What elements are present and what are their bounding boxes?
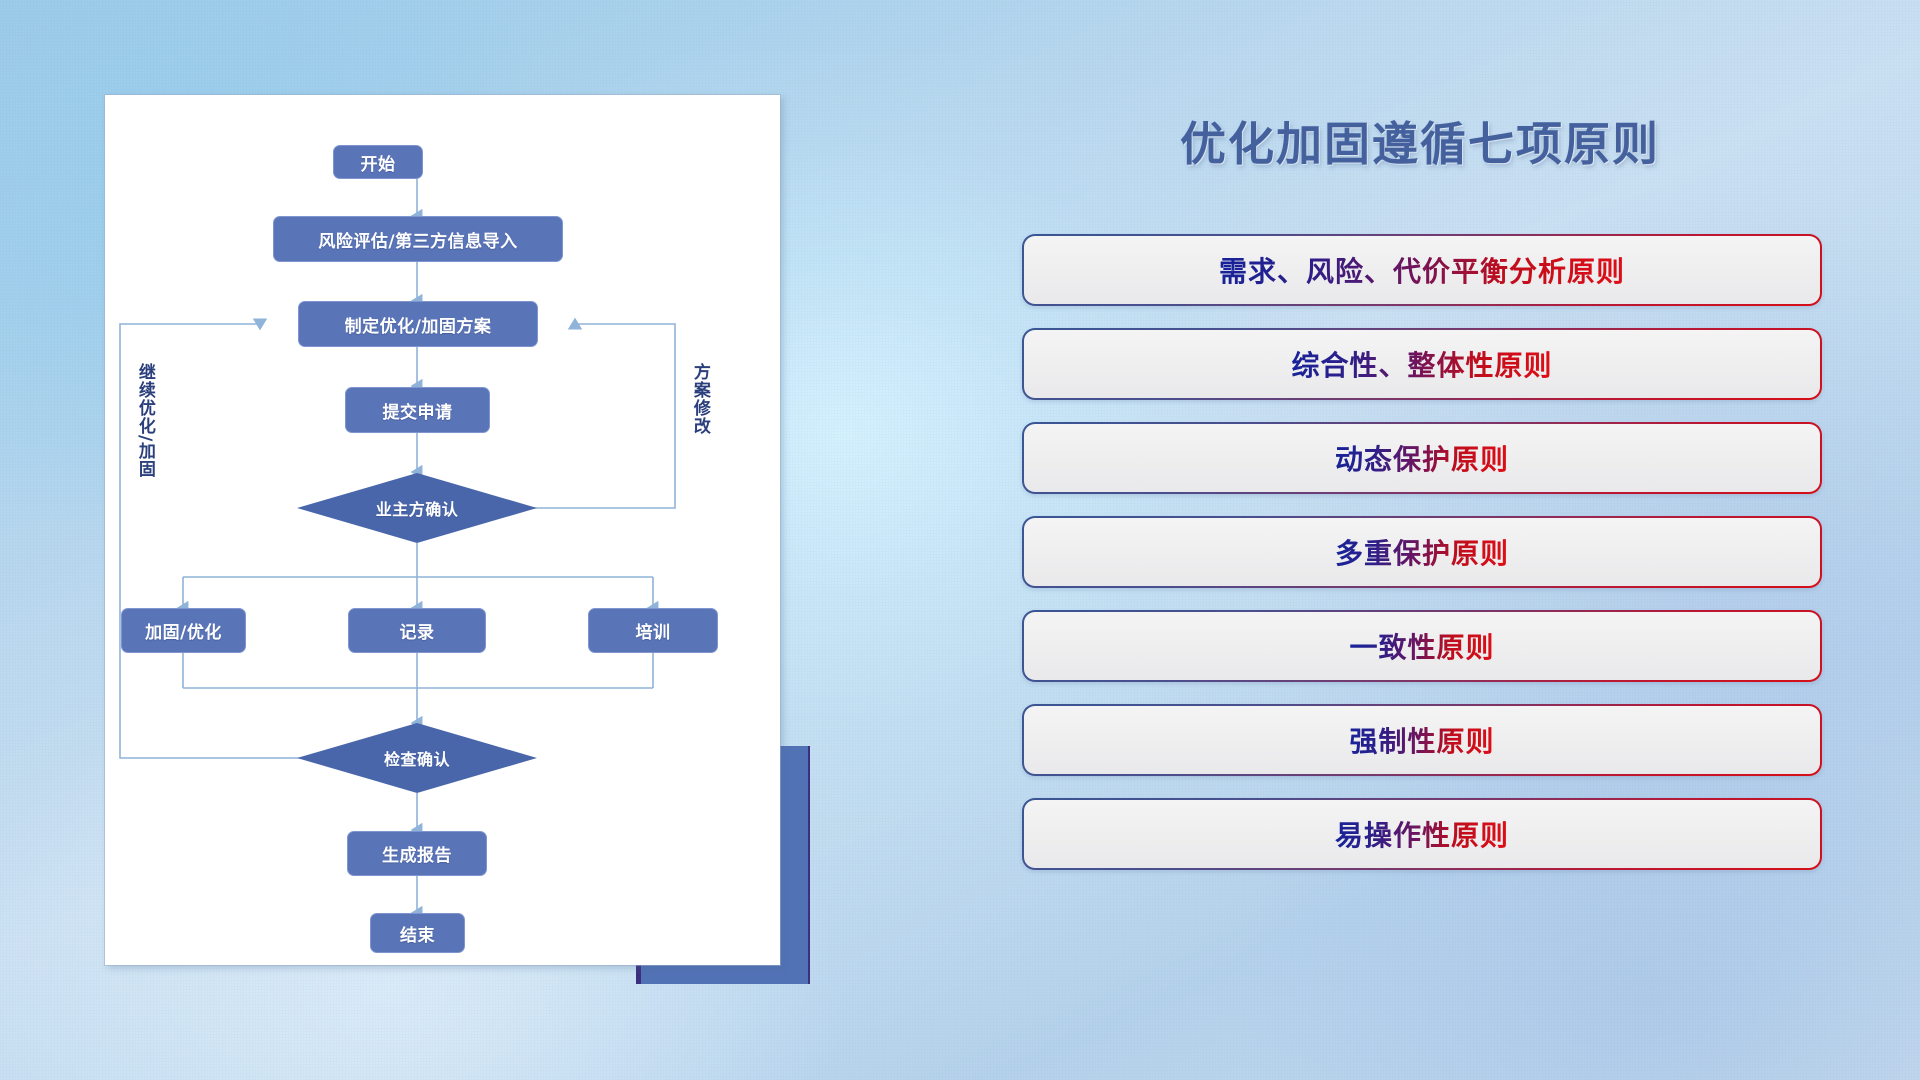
flow-node-end[interactable]: 结束 <box>370 913 465 953</box>
flow-node-label: 加固/优化 <box>145 618 222 643</box>
principle-item-surface: 需求、风险、代价平衡分析原则 <box>1024 236 1820 304</box>
flow-node-label: 记录 <box>400 618 435 643</box>
flow-node-label: 开始 <box>361 150 396 175</box>
flow-node-label: 检查确认 <box>384 746 450 770</box>
flow-node-training[interactable]: 培训 <box>588 608 718 653</box>
principle-item-surface: 多重保护原则 <box>1024 518 1820 586</box>
flow-node-label: 提交申请 <box>383 398 453 423</box>
principle-item-6[interactable]: 强制性原则 <box>1022 704 1822 776</box>
principle-item-surface: 动态保护原则 <box>1024 424 1820 492</box>
principle-item-7[interactable]: 易操作性原则 <box>1022 798 1822 870</box>
principle-item-surface: 强制性原则 <box>1024 706 1820 774</box>
flow-node-plan[interactable]: 制定优化/加固方案 <box>298 301 538 347</box>
flowchart-card: 开始 风险评估/第三方信息导入 制定优化/加固方案 提交申请 业主方确认 加固/… <box>105 95 780 965</box>
flow-node-record[interactable]: 记录 <box>348 608 486 653</box>
flow-node-label: 生成报告 <box>382 841 452 866</box>
principle-item-3[interactable]: 动态保护原则 <box>1022 422 1822 494</box>
principle-label: 多重保护原则 <box>1335 532 1509 572</box>
principle-label: 强制性原则 <box>1349 720 1494 760</box>
principle-item-surface: 综合性、整体性原则 <box>1024 330 1820 398</box>
principle-item-surface: 易操作性原则 <box>1024 800 1820 868</box>
flow-decision-owner-confirm[interactable]: 业主方确认 <box>297 473 537 543</box>
flow-node-report[interactable]: 生成报告 <box>347 831 487 876</box>
principle-label: 易操作性原则 <box>1335 814 1509 854</box>
principle-item-5[interactable]: 一致性原则 <box>1022 610 1822 682</box>
flow-node-label: 制定优化/加固方案 <box>345 312 492 337</box>
principles-list: 需求、风险、代价平衡分析原则 综合性、整体性原则 动态保护原则 多重保护原则 一… <box>1022 234 1822 870</box>
flow-node-start[interactable]: 开始 <box>333 145 423 179</box>
flow-node-label: 结束 <box>400 921 435 946</box>
principle-label: 动态保护原则 <box>1335 438 1509 478</box>
principle-label: 需求、风险、代价平衡分析原则 <box>1219 250 1625 290</box>
flow-node-risk-assessment[interactable]: 风险评估/第三方信息导入 <box>273 216 563 262</box>
flow-node-label: 培训 <box>636 618 671 643</box>
flow-node-label: 风险评估/第三方信息导入 <box>318 227 517 252</box>
flow-edge-label-continue-optimize: 继续优化/加固 <box>135 363 153 478</box>
principle-item-4[interactable]: 多重保护原则 <box>1022 516 1822 588</box>
flow-node-label: 业主方确认 <box>376 496 459 520</box>
flow-decision-inspect[interactable]: 检查确认 <box>297 723 537 793</box>
principle-label: 综合性、整体性原则 <box>1291 344 1552 384</box>
principle-label: 一致性原则 <box>1349 626 1494 666</box>
principles-panel-title: 优化加固遵循七项原则 <box>1020 108 1820 174</box>
principle-item-surface: 一致性原则 <box>1024 612 1820 680</box>
flow-node-submit[interactable]: 提交申请 <box>345 387 490 433</box>
flow-node-reinforce[interactable]: 加固/优化 <box>121 608 246 653</box>
principle-item-2[interactable]: 综合性、整体性原则 <box>1022 328 1822 400</box>
principle-item-1[interactable]: 需求、风险、代价平衡分析原则 <box>1022 234 1822 306</box>
flow-edge-label-plan-revise: 方案修改 <box>690 363 708 435</box>
